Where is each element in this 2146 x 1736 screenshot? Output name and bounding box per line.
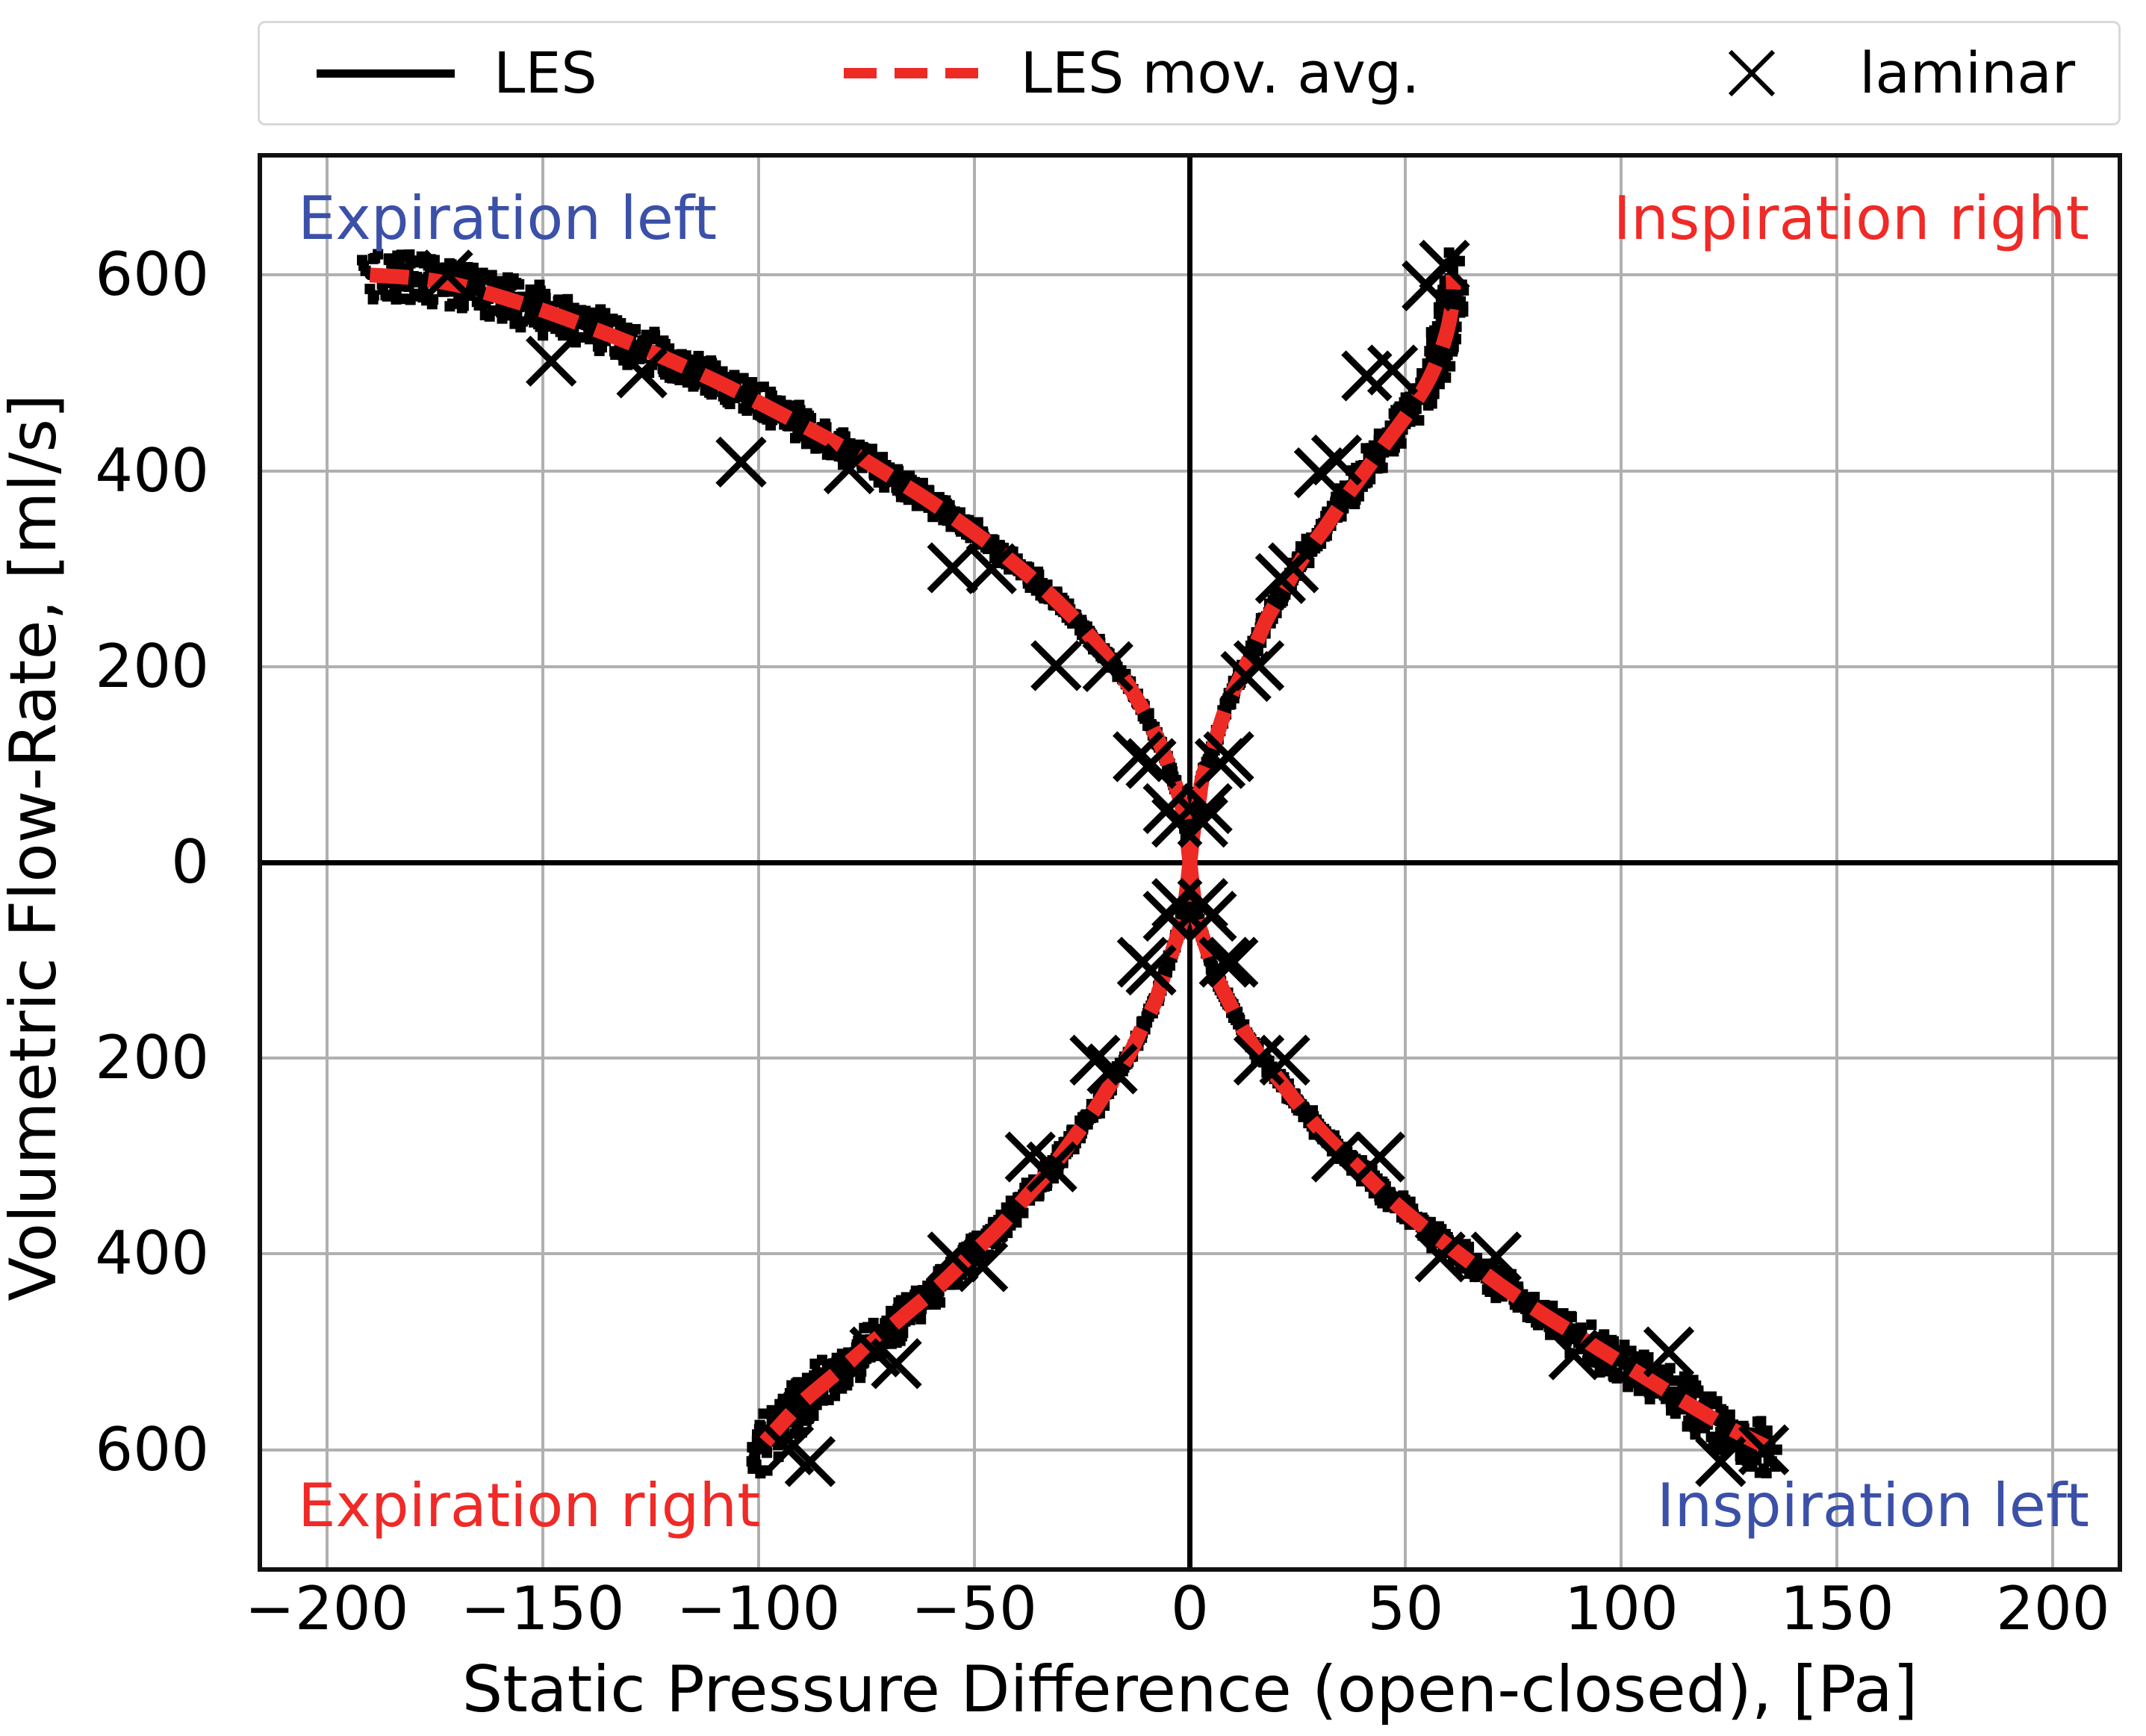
y-tick-label: 0 bbox=[171, 833, 209, 892]
x-axis-title: Static Pressure Difference (open-closed)… bbox=[258, 1656, 2122, 1723]
legend-entry-les: LES bbox=[317, 45, 597, 102]
y-tick-label: 200 bbox=[95, 637, 209, 697]
legend-label-laminar: laminar bbox=[1859, 45, 2075, 102]
chart-data-layer bbox=[262, 158, 2118, 1567]
x-tick-label: 150 bbox=[1780, 1579, 1894, 1639]
annotation-inspiration-left: Inspiration left bbox=[1657, 1476, 2089, 1536]
y-tick-label: 200 bbox=[95, 1028, 209, 1088]
y-axis-title: Volumetric Flow-Rate, [ml/s] bbox=[0, 138, 67, 1557]
x-tick-label: −200 bbox=[245, 1579, 409, 1639]
x-axis-tick-labels: −200−150−100−50050100150200 bbox=[258, 1579, 2122, 1654]
x-tick-mark bbox=[756, 1567, 761, 1572]
legend-entry-laminar: laminar bbox=[1682, 44, 2075, 102]
x-tick-mark bbox=[1835, 1567, 1839, 1572]
x-tick-label: −150 bbox=[461, 1579, 625, 1639]
chart-legend: LES LES mov. avg. laminar bbox=[258, 21, 2121, 125]
y-tick-label: 400 bbox=[95, 441, 209, 501]
x-tick-mark bbox=[541, 1567, 545, 1572]
x-tick-mark bbox=[1403, 1567, 1408, 1572]
laminar-markers bbox=[425, 242, 1788, 1484]
les-scatter-band bbox=[357, 247, 1782, 1478]
annotation-expiration-right: Expiration right bbox=[298, 1476, 760, 1536]
x-tick-label: 100 bbox=[1564, 1579, 1679, 1639]
y-tick-label: 400 bbox=[95, 1224, 209, 1284]
x-tick-mark bbox=[325, 1567, 329, 1572]
annotation-inspiration-right: Inspiration right bbox=[1613, 189, 2089, 249]
solid-line-icon bbox=[317, 69, 455, 78]
legend-label-les: LES bbox=[494, 45, 597, 102]
x-tick-mark bbox=[972, 1567, 977, 1572]
legend-entry-les-mov-avg: LES mov. avg. bbox=[844, 45, 1420, 102]
x-tick-mark bbox=[1619, 1567, 1623, 1572]
dashed-line-icon bbox=[844, 68, 982, 78]
x-tick-label: 200 bbox=[1996, 1579, 2110, 1639]
y-tick-label: 600 bbox=[95, 1420, 209, 1480]
les-moving-average-lines bbox=[370, 275, 1773, 1449]
x-tick-label: 0 bbox=[1171, 1579, 1209, 1639]
x-marker-icon bbox=[1682, 44, 1820, 102]
y-tick-label: 600 bbox=[95, 245, 209, 305]
x-tick-label: 50 bbox=[1368, 1579, 1444, 1639]
annotation-expiration-left: Expiration left bbox=[298, 189, 717, 249]
legend-label-les-mov-avg: LES mov. avg. bbox=[1021, 45, 1420, 102]
x-tick-label: −100 bbox=[677, 1579, 841, 1639]
x-tick-label: −50 bbox=[911, 1579, 1037, 1639]
plot-area: Expiration left Inspiration right Expira… bbox=[258, 153, 2122, 1572]
x-tick-mark bbox=[2050, 1567, 2055, 1572]
x-tick-mark bbox=[1188, 1567, 1192, 1572]
